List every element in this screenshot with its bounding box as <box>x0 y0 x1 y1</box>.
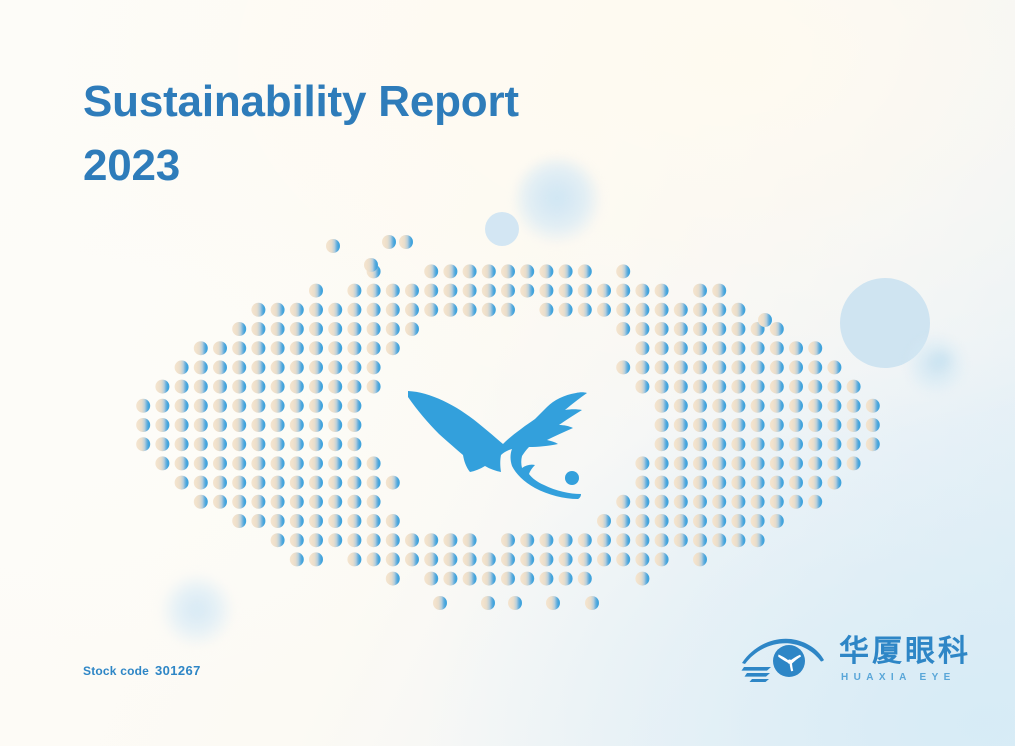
brand-name-cn: 华厦眼科 <box>839 637 971 667</box>
stock-code: Stock code301267 <box>83 663 201 678</box>
eye-with-bird-icon <box>740 636 826 684</box>
page-title: Sustainability Report 2023 <box>83 70 519 198</box>
brand-name-en: HUAXIA EYE <box>841 673 956 683</box>
report-cover-page: Sustainability Report 2023 Stock code301… <box>0 0 1015 746</box>
stock-code-label: Stock code <box>83 664 149 678</box>
flying-crane-icon <box>404 372 600 512</box>
stock-code-value: 301267 <box>155 663 201 678</box>
brand-logo: 华厦眼科 HUAXIA EYE <box>740 636 971 684</box>
brand-text: 华厦眼科 HUAXIA EYE <box>839 637 971 683</box>
